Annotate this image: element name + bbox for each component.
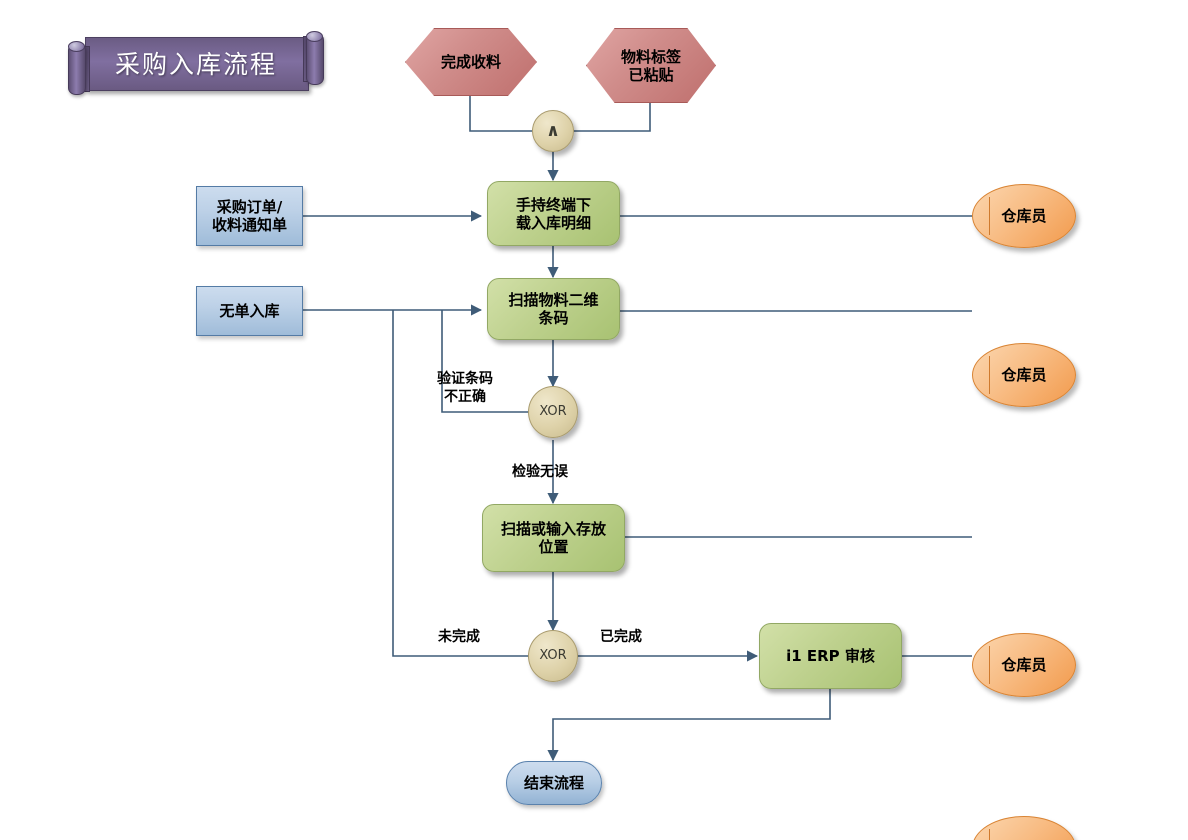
and-gate-connector[interactable]: ∧ [532, 110, 574, 152]
page-title: 采购入库流程 [85, 37, 307, 89]
role-warehouse-staff-2[interactable]: 仓库员 [972, 343, 1076, 407]
event-material-label-attached-label: 物料标签 已粘贴 [621, 48, 681, 84]
end-process-label: 结束流程 [524, 774, 584, 792]
xor-gate-location-complete[interactable]: XOR [528, 630, 578, 682]
edge-label-check-ok: 检验无误 [512, 464, 568, 482]
end-process-node[interactable]: 结束流程 [506, 761, 602, 805]
and-gate-label: ∧ [546, 121, 560, 141]
process-scan-material-qrcode-label: 扫描物料二维 条码 [508, 291, 598, 327]
banner-cap-left [68, 41, 85, 52]
process-erp-audit[interactable]: i1 ERP 审核 [759, 623, 902, 689]
connector-lines [0, 0, 1188, 840]
process-scan-or-enter-location-label: 扫描或输入存放 位置 [501, 520, 606, 556]
document-no-order-inbound-label: 无单入库 [219, 302, 279, 320]
process-scan-material-qrcode[interactable]: 扫描物料二维 条码 [487, 278, 620, 340]
edge-label-not-finished: 未完成 [438, 629, 480, 647]
role-warehouse-staff-3-label: 仓库员 [1001, 656, 1046, 674]
process-scan-or-enter-location[interactable]: 扫描或输入存放 位置 [482, 504, 625, 572]
edge-label-barcode-invalid: 验证条码 不正确 [437, 371, 493, 406]
role-warehouse-staff-2-label: 仓库员 [1001, 366, 1046, 384]
document-purchase-order-label: 采购订单/ 收料通知单 [212, 198, 287, 234]
process-download-inbound-details[interactable]: 手持终端下 载入库明细 [487, 181, 620, 246]
document-no-order-inbound[interactable]: 无单入库 [196, 286, 303, 336]
process-erp-audit-label: i1 ERP 审核 [786, 647, 875, 665]
role-warehouse-manager[interactable]: 库管员 [972, 816, 1076, 840]
role-warehouse-staff-3[interactable]: 仓库员 [972, 633, 1076, 697]
event-material-label-attached[interactable]: 物料标签 已粘贴 [586, 28, 716, 103]
event-receive-complete[interactable]: 完成收料 [405, 28, 537, 96]
xor-gate-location-complete-label: XOR [539, 648, 566, 664]
banner-cap-right [306, 31, 323, 42]
role-warehouse-staff-1-label: 仓库员 [1001, 207, 1046, 225]
edge-label-finished: 已完成 [600, 629, 642, 647]
xor-gate-barcode-check-label: XOR [539, 404, 566, 420]
role-warehouse-staff-1[interactable]: 仓库员 [972, 184, 1076, 248]
event-receive-complete-label: 完成收料 [441, 53, 501, 71]
flowchart-canvas: 采购入库流程 完成收料 物料标签 已粘贴 ∧ 采购订单/ 收料通知单 无单入库 … [0, 0, 1188, 840]
title-banner: 采购入库流程 [63, 31, 328, 93]
xor-gate-barcode-check[interactable]: XOR [528, 386, 578, 438]
document-purchase-order[interactable]: 采购订单/ 收料通知单 [196, 186, 303, 246]
process-download-inbound-details-label: 手持终端下 载入库明细 [516, 196, 591, 232]
